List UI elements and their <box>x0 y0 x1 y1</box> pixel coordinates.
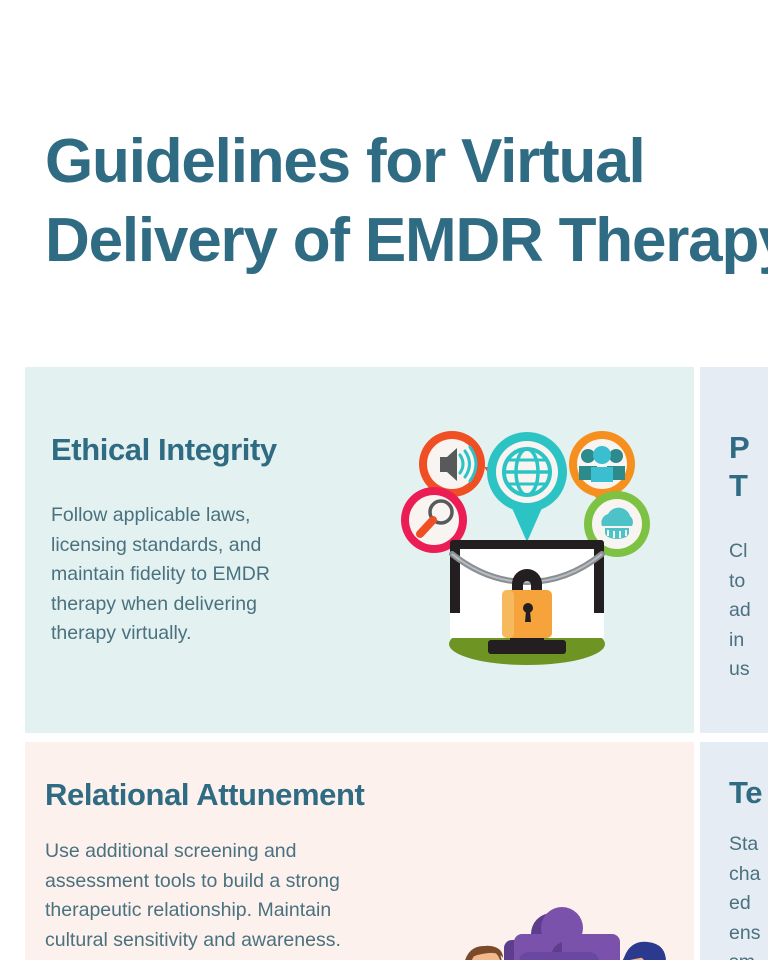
card-body-line: ed <box>729 889 760 919</box>
card-body-line: ens <box>729 919 760 949</box>
card-body-line: to <box>729 567 751 597</box>
card-body-line: cultural sensitivity and awareness. <box>45 926 341 956</box>
card-body-line: Cl <box>729 537 751 567</box>
card-ethical-integrity[interactable]: Ethical Integrity Follow applicable laws… <box>25 367 694 733</box>
card-body-line: Follow applicable laws, <box>51 501 270 531</box>
card-heading-technology: Te <box>729 774 762 812</box>
card-body-line: cha <box>729 860 760 890</box>
page-title-line-2: Delivery of EMDR Therapy <box>45 201 768 280</box>
secure-monitor-illustration <box>392 412 662 672</box>
card-heading-line: T <box>729 467 749 505</box>
card-body-relational-attunement: Use additional screening and assessment … <box>45 837 341 955</box>
card-heading-relational-attunement: Relational Attunement <box>45 776 364 814</box>
card-body-line: sm <box>729 948 760 960</box>
card-heading-ethical-integrity: Ethical Integrity <box>51 431 277 469</box>
people-icon <box>569 431 635 500</box>
card-heading-privacy-safety-technology: P T <box>729 429 749 505</box>
card-body-line: licensing standards, and <box>51 531 270 561</box>
card-body-line: assessment tools to build a strong <box>45 867 341 897</box>
card-body-line: therapy when delivering <box>51 590 270 620</box>
infographic-page: Guidelines for Virtual Delivery of EMDR … <box>0 0 768 960</box>
card-body-line: in <box>729 626 751 656</box>
card-relational-attunement[interactable]: Relational Attunement Use additional scr… <box>25 742 694 960</box>
card-body-line: therapeutic relationship. Maintain <box>45 896 341 926</box>
puzzle-piece-icon <box>504 907 626 960</box>
card-body-line: ad <box>729 596 751 626</box>
guideline-card-grid: Ethical Integrity Follow applicable laws… <box>25 367 768 960</box>
card-body-line: Sta <box>729 830 760 860</box>
card-privacy-safety-technology[interactable]: P T Cl to ad in us <box>700 367 768 733</box>
card-body-ethical-integrity: Follow applicable laws, licensing standa… <box>51 501 270 649</box>
puzzle-collaboration-illustration <box>434 892 684 960</box>
page-title-line-1: Guidelines for Virtual <box>45 122 768 201</box>
globe-icon <box>487 432 567 542</box>
card-body-technology: Sta cha ed ens sm <box>729 830 760 960</box>
card-heading-line: P <box>729 429 749 467</box>
card-body-line: us <box>729 655 751 685</box>
card-body-line: therapy virtually. <box>51 619 270 649</box>
card-body-privacy-safety-technology: Cl to ad in us <box>729 537 751 685</box>
card-body-line: maintain fidelity to EMDR <box>51 560 270 590</box>
page-title: Guidelines for Virtual Delivery of EMDR … <box>45 122 768 280</box>
card-technology[interactable]: Te Sta cha ed ens sm <box>700 742 768 960</box>
card-body-line: Use additional screening and <box>45 837 341 867</box>
